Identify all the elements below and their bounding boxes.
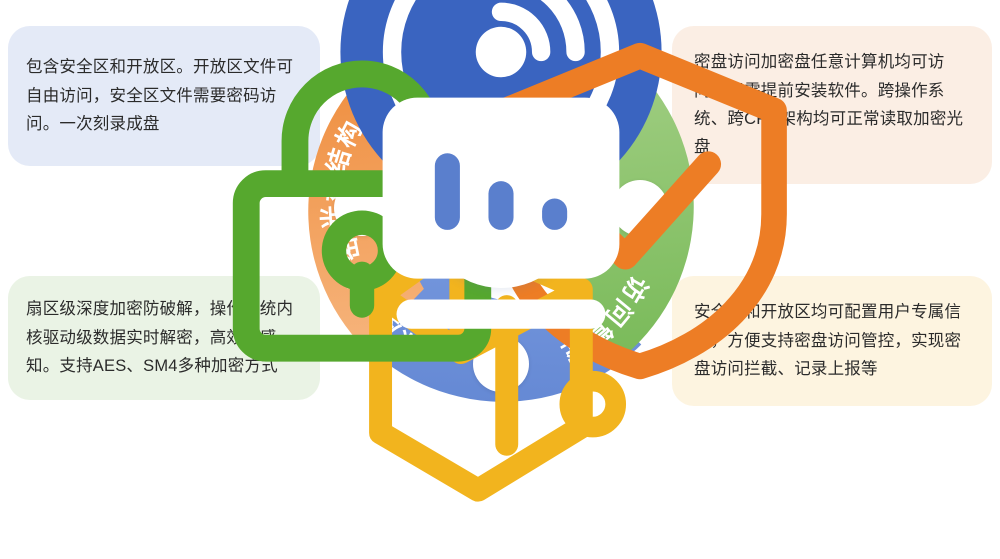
donut-diagram: 光盘结构 密盘访问 访问管控 深度加解密: [306, 14, 696, 404]
server-monitor-icon: [306, 14, 696, 404]
hub-center[interactable]: [435, 143, 567, 275]
